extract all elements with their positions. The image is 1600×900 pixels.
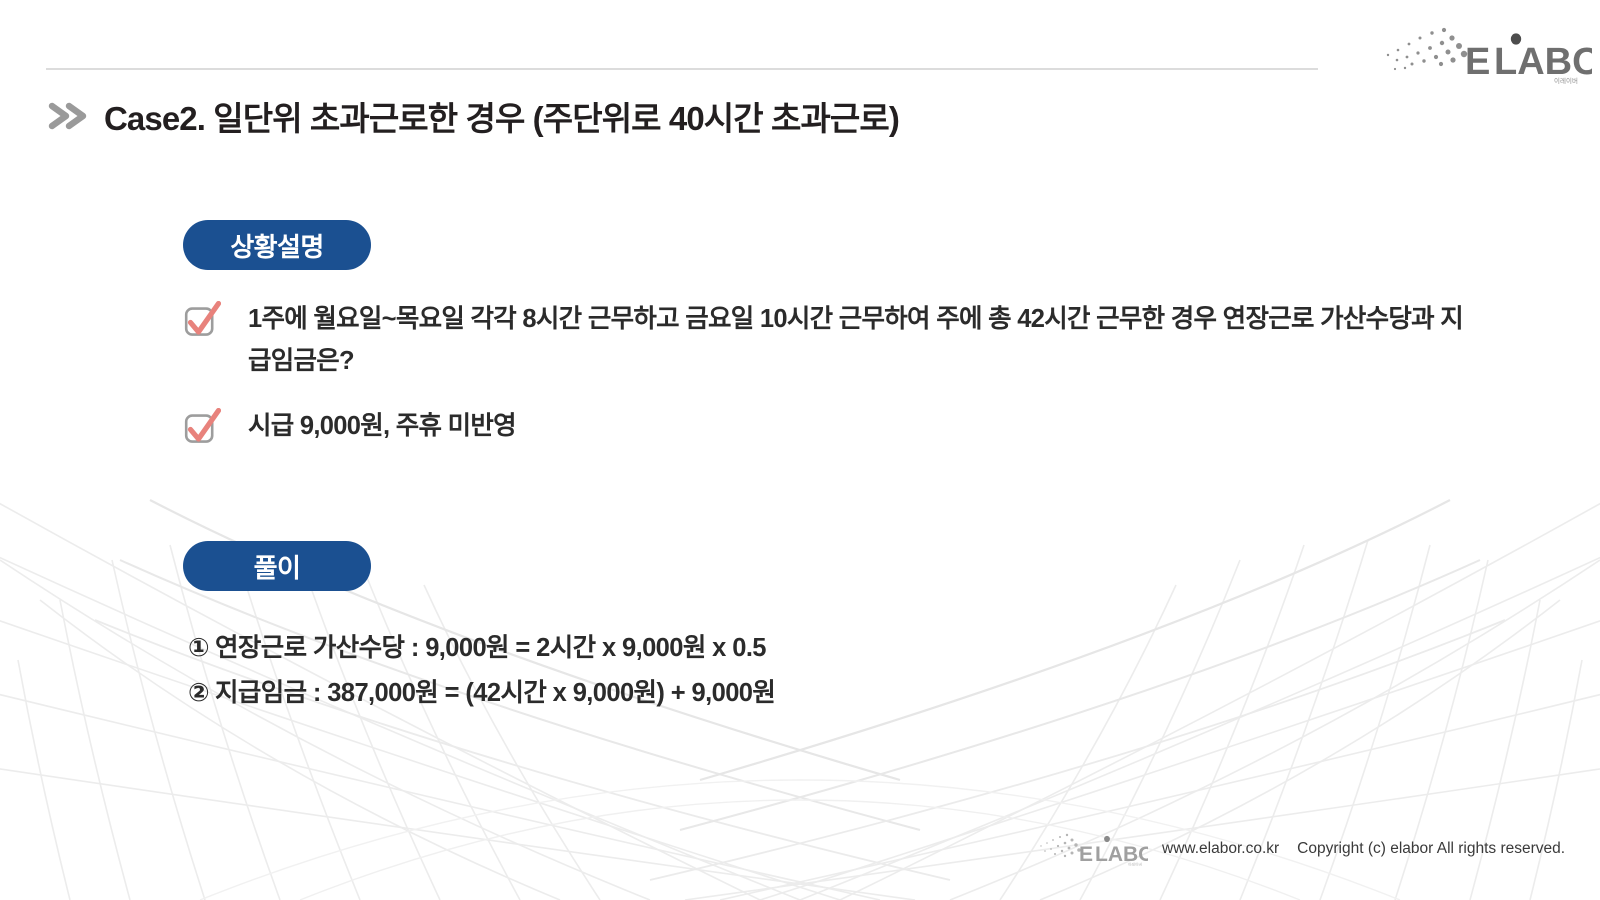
list-item: 1주에 월요일~목요일 각각 8시간 근무하고 금요일 10시간 근무하여 주에… xyxy=(183,298,1473,383)
section-badge-situation: 상황설명 xyxy=(183,220,371,270)
header-divider xyxy=(46,68,1318,70)
svg-text:E: E xyxy=(1465,41,1491,83)
list-item-text: 시급 9,000원, 주휴 미반영 xyxy=(248,405,516,447)
solution-line-number: ① xyxy=(188,634,209,662)
solution-line-list: ①연장근로 가산수당 : 9,000원 = 2시간 x 9,000원 x 0.5… xyxy=(188,626,775,717)
slide-canvas: E LABOR 이레이버 Case2. 일단위 초과근로한 경우 (주단위로 4… xyxy=(0,0,1600,900)
solution-line-text: 연장근로 가산수당 : 9,000원 = 2시간 x 9,000원 x 0.5 xyxy=(215,634,766,662)
elabor-logo: E LABOR 이레이버 xyxy=(1348,24,1592,84)
svg-text:LABOR: LABOR xyxy=(1494,41,1592,83)
page-title-row: Case2. 일단위 초과근로한 경우 (주단위로 40시간 초과근로) xyxy=(46,92,899,140)
checkbox-checked-icon xyxy=(183,408,221,446)
svg-text:이레이버: 이레이버 xyxy=(1128,862,1142,866)
solution-line: ②지급임금 : 387,000원 = (42시간 x 9,000원) + 9,0… xyxy=(188,671,775,716)
checkbox-checked-icon xyxy=(183,301,221,339)
page-title: Case2. 일단위 초과근로한 경우 (주단위로 40시간 초과근로) xyxy=(104,92,899,140)
list-item-text: 1주에 월요일~목요일 각각 8시간 근무하고 금요일 10시간 근무하여 주에… xyxy=(248,298,1473,383)
solution-line-text: 지급임금 : 387,000원 = (42시간 x 9,000원) + 9,00… xyxy=(215,679,775,707)
slide-footer: E LABOR 이레이버 www.elabor.co.kr Copyright … xyxy=(1015,832,1565,866)
solution-line: ①연장근로 가산수당 : 9,000원 = 2시간 x 9,000원 x 0.5 xyxy=(188,626,775,671)
list-item: 시급 9,000원, 주휴 미반영 xyxy=(183,405,1473,447)
solution-line-number: ② xyxy=(188,679,209,707)
elabor-logo-footer: E LABOR 이레이버 xyxy=(1015,832,1148,866)
footer-url[interactable]: www.elabor.co.kr xyxy=(1162,840,1279,858)
footer-copyright: Copyright (c) elabor All rights reserved… xyxy=(1297,840,1565,858)
svg-text:E: E xyxy=(1079,843,1094,866)
double-chevron-right-icon xyxy=(46,97,88,135)
situation-bullet-list: 1주에 월요일~목요일 각각 8시간 근무하고 금요일 10시간 근무하여 주에… xyxy=(183,298,1473,469)
section-badge-solution: 풀이 xyxy=(183,541,371,591)
svg-text:이레이버: 이레이버 xyxy=(1554,76,1578,84)
